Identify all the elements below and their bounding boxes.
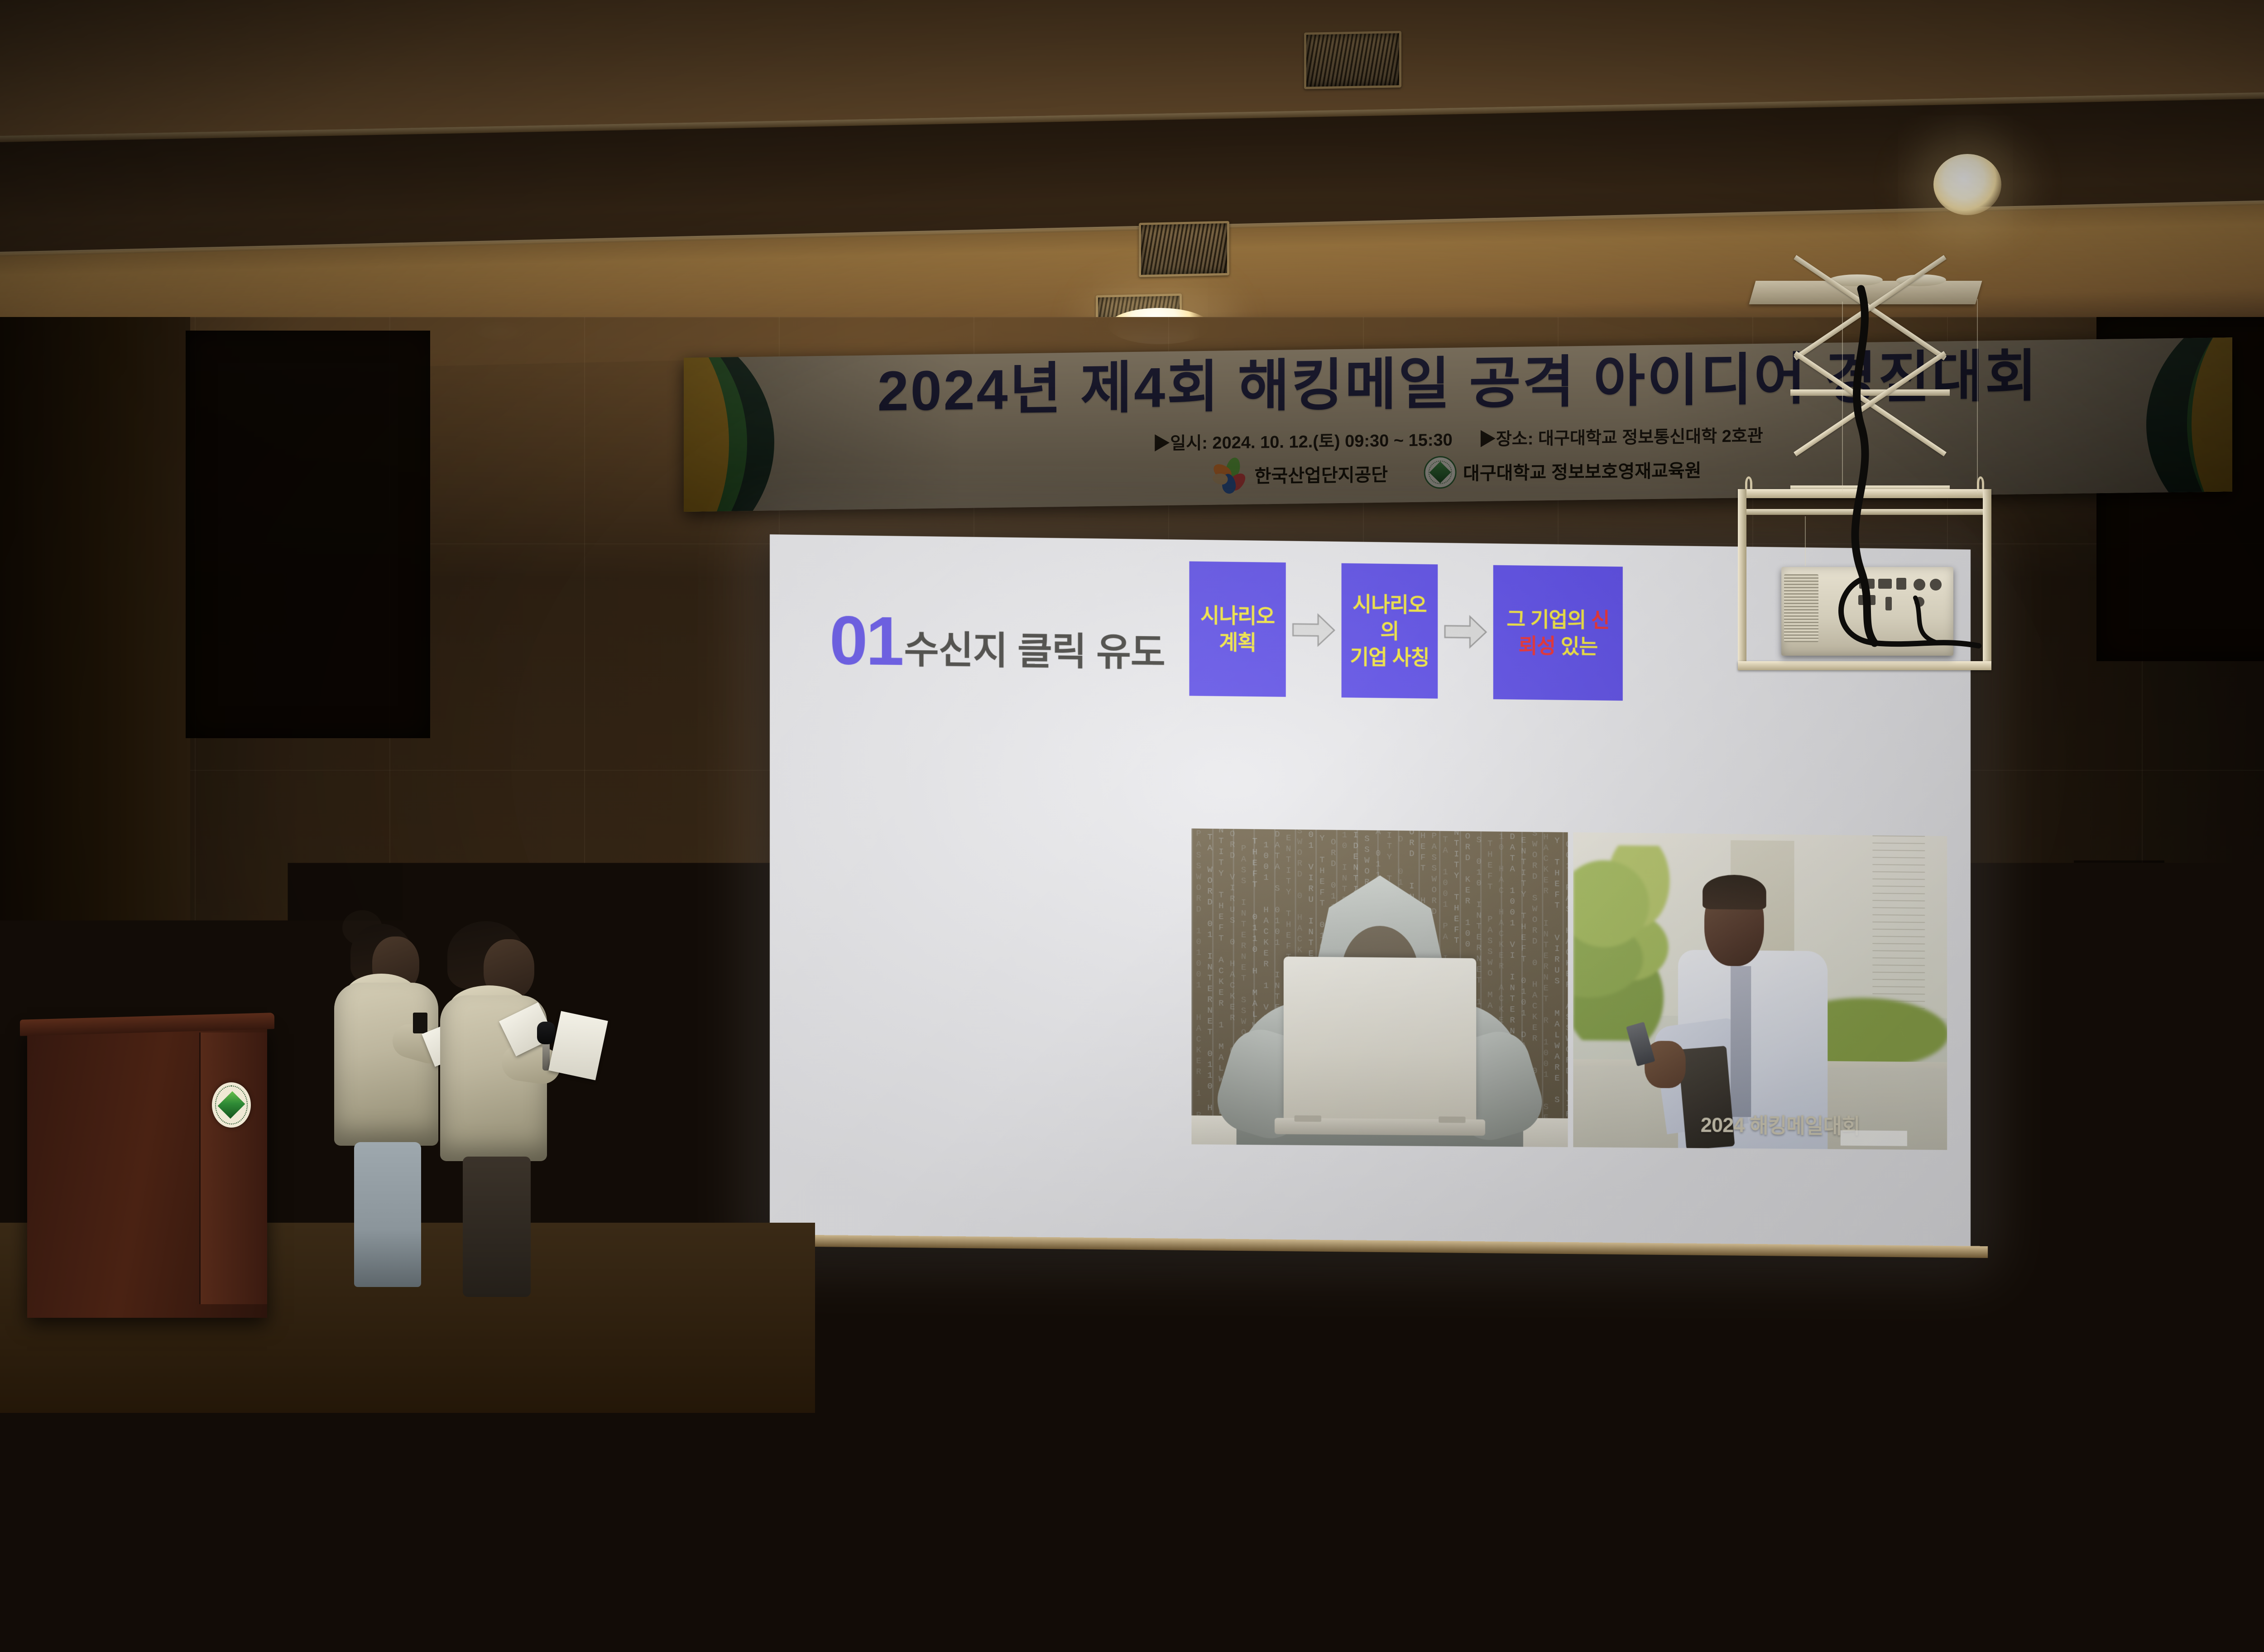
photo-caption: 2024 해킹메일대회 <box>1701 1109 1860 1139</box>
recessed-downlight-icon <box>1933 154 2001 215</box>
flow-step-3-suffix: 있는 <box>1561 634 1597 658</box>
seat[interactable] <box>0 1549 226 1652</box>
seat[interactable] <box>2092 1449 2264 1597</box>
slide-number: 01 <box>830 611 902 671</box>
flow-step-3-prefix: 그 기업의 <box>1506 607 1586 632</box>
matrix-code-backdrop: PASSWORD 101001 HACKER 1 PASSW VIRUS SWO… <box>1191 828 1568 832</box>
flow-diagram: 시나리오 계획 시나리오의 기업 사칭 그 기업의 <box>1189 562 1622 701</box>
audience-area: 심사위원석 등기초 <box>0 1150 2264 1652</box>
seat[interactable] <box>1476 1437 1657 1582</box>
auditorium-scene: 2024년 제4회 해킹메일 공격 아이디어 경진대회 ▶일시: 2024. 1… <box>0 0 2264 1652</box>
kicox-logo-label: 한국산업단지공단 <box>1255 460 1388 488</box>
seat[interactable] <box>1268 1436 1449 1580</box>
daegu-university-logo-label: 대구대학교 정보보호영재교육원 <box>1463 456 1701 485</box>
daegu-university-seal-icon <box>212 1082 251 1128</box>
wall-speaker-panel <box>186 331 430 738</box>
audience-head <box>1838 1241 1929 1341</box>
matrix-code-column: DATA WORD 01 INTERNET 0110 HA SECURITY B… <box>1204 828 1214 1147</box>
matrix-code-column: PASSWORD 101001 HACKER 1 PASSW VIRUS SWO… <box>1193 828 1203 1147</box>
seat[interactable] <box>2137 1585 2264 1652</box>
hvac-vent-icon <box>1139 221 1229 277</box>
audience-shoulders <box>1639 1333 1798 1410</box>
seat[interactable] <box>1055 1433 1236 1578</box>
flow-arrow-right-icon <box>1292 612 1335 648</box>
matrix-code-column: PASSWORD 001 PAS HACKER ASSWORD VIRUS RD… <box>1563 828 1568 1147</box>
seat[interactable] <box>1041 1580 1295 1652</box>
flow-step-3: 그 기업의 신뢰성 있는 <box>1493 565 1623 701</box>
banner-date-label: ▶일시: 2024. 10. 12.(토) 09:30 ~ 15:30 <box>1153 426 1453 455</box>
flow-step-3-label: 그 기업의 신뢰성 있는 <box>1498 606 1618 660</box>
businessman-tie <box>1731 966 1751 1117</box>
projector-cable-bundle <box>1725 281 2006 679</box>
slide-headline-text: 수신지 클릭 유도 <box>904 630 1165 674</box>
seat[interactable] <box>933 1321 1069 1435</box>
matrix-code-column: DATA HACKER INTERNET R 1001 SECURITY BRE… <box>1540 828 1550 1147</box>
seat[interactable] <box>761 1580 1014 1652</box>
microphone-icon <box>537 1022 555 1044</box>
seat[interactable] <box>1318 1576 1571 1652</box>
slide-photo-row: PASSWORD 101001 HACKER 1 PASSW VIRUS SWO… <box>1191 828 1947 1150</box>
hvac-vent-icon <box>1304 31 1401 89</box>
projector-scissor-lift <box>1725 281 2006 679</box>
seat[interactable] <box>1888 1444 2069 1590</box>
judges-seat-sign: 심사위원석 <box>2203 1264 2264 1333</box>
judges-seat-sign-text: 심사위원석 <box>2235 1285 2264 1312</box>
kicox-logo-group: 한국산업단지공단 <box>1215 456 1388 492</box>
seat[interactable] <box>652 1429 833 1574</box>
daegu-university-seal-icon <box>1424 456 1457 489</box>
flow-step-2-line-2: 기업 사칭 <box>1350 645 1429 669</box>
banner-subtitle-row: ▶일시: 2024. 10. 12.(토) 09:30 ~ 15:30 ▶장소:… <box>1153 422 1763 455</box>
photo-caption-chip <box>1841 1130 1907 1146</box>
kicox-logo-icon <box>1215 458 1248 492</box>
banner-logo-row: 한국산업단지공단 대구대학교 정보보호영재교육원 <box>1215 452 1702 492</box>
businessman-phone-photo: 2024 해킹메일대회 <box>1573 832 1947 1150</box>
flow-arrow-right-icon <box>1444 614 1487 650</box>
flow-step-1: 시나리오 계획 <box>1189 562 1285 697</box>
banner-place-label: ▶장소: 대구대학교 정보통신대학 2호관 <box>1479 422 1763 450</box>
seat[interactable] <box>1866 1579 2119 1652</box>
flow-step-1-label: 시나리오 계획 <box>1194 602 1281 656</box>
flow-step-2-label: 시나리오의 기업 사칭 <box>1346 591 1433 671</box>
flow-step-2-line-1: 시나리오의 <box>1353 592 1427 643</box>
audience-head <box>539 1272 619 1356</box>
businessman-hair <box>1703 874 1766 910</box>
matrix-code-column: IDENTITY THEFT VIRUS MALWARE S 0101 PHIS… <box>1552 828 1562 1147</box>
audience-head <box>978 1228 1069 1330</box>
hacker-photo: PASSWORD 101001 HACKER 1 PASSW VIRUS SWO… <box>1191 828 1568 1147</box>
partially-occluded-seat-sign-text: 등기초 <box>2230 1353 2264 1378</box>
slide-headline: 01 수신지 클릭 유도 <box>830 611 1165 674</box>
seat[interactable] <box>1594 1574 1847 1652</box>
seat[interactable] <box>1684 1440 1866 1586</box>
flow-step-2: 시나리오의 기업 사칭 <box>1342 563 1438 699</box>
daegu-university-logo-group: 대구대학교 정보보호영재교육원 <box>1424 453 1701 489</box>
seat[interactable] <box>213 1558 466 1652</box>
seat[interactable] <box>489 1571 743 1652</box>
laptop-icon <box>1284 956 1476 1120</box>
photo-building-2 <box>1872 836 1924 1012</box>
seat[interactable] <box>856 1428 1037 1573</box>
partially-occluded-seat-sign: 등기초 <box>2187 1330 2264 1400</box>
